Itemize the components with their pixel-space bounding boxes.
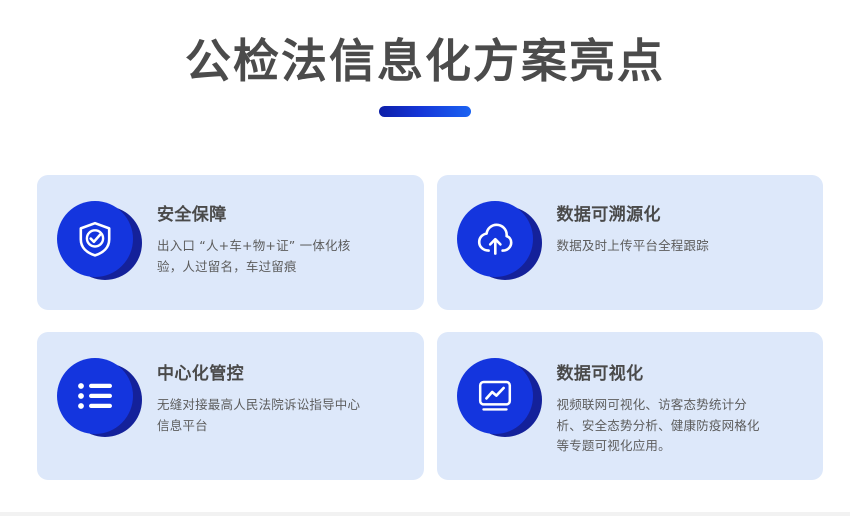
card-title: 中心化管控 [157,364,404,384]
card-text: 中心化管控 无缝对接最高人民法院诉讼指导中心信息平台 [157,350,404,436]
card-text: 安全保障 出入口 “人+车+物+证” 一体化核验，人过留名，车过留痕 [157,193,404,277]
cloud-upload-icon [475,221,515,257]
card-title: 数据可视化 [557,364,804,384]
card-text: 数据可视化 视频联网可视化、访客态势统计分析、安全态势分析、健康防疫网格化等专题… [557,350,804,456]
icon-circle [57,358,133,434]
icon-badge [457,358,539,440]
icon-circle [457,201,533,277]
page-header: 公检法信息化方案亮点 [0,0,850,117]
bottom-divider [0,512,850,516]
feature-card-centralized-control[interactable]: 中心化管控 无缝对接最高人民法院诉讼指导中心信息平台 [37,332,424,480]
card-description: 无缝对接最高人民法院诉讼指导中心信息平台 [157,395,372,436]
card-title: 数据可溯源化 [557,205,804,225]
chart-monitor-icon [476,379,514,413]
feature-card-security[interactable]: 安全保障 出入口 “人+车+物+证” 一体化核验，人过留名，车过留痕 [37,175,424,310]
shield-check-icon [77,220,113,258]
icon-badge [57,201,139,283]
card-description: 视频联网可视化、访客态势统计分析、安全态势分析、健康防疫网格化等专题可视化应用。 [557,395,762,456]
page-title: 公检法信息化方案亮点 [0,34,850,88]
title-underline-bar [379,106,471,117]
card-description: 出入口 “人+车+物+证” 一体化核验，人过留名，车过留痕 [157,236,372,277]
feature-card-grid: 安全保障 出入口 “人+车+物+证” 一体化核验，人过留名，车过留痕 [37,175,823,480]
feature-card-data-visualization[interactable]: 数据可视化 视频联网可视化、访客态势统计分析、安全态势分析、健康防疫网格化等专题… [437,332,824,480]
list-icon [76,381,114,411]
icon-circle [457,358,533,434]
card-text: 数据可溯源化 数据及时上传平台全程跟踪 [557,193,804,257]
feature-card-data-traceability[interactable]: 数据可溯源化 数据及时上传平台全程跟踪 [437,175,824,310]
icon-circle [57,201,133,277]
card-title: 安全保障 [157,205,404,225]
icon-badge [457,201,539,283]
icon-badge [57,358,139,440]
card-description: 数据及时上传平台全程跟踪 [557,236,772,256]
feature-highlights-page: 公检法信息化方案亮点 安全保障 出 [0,0,850,516]
